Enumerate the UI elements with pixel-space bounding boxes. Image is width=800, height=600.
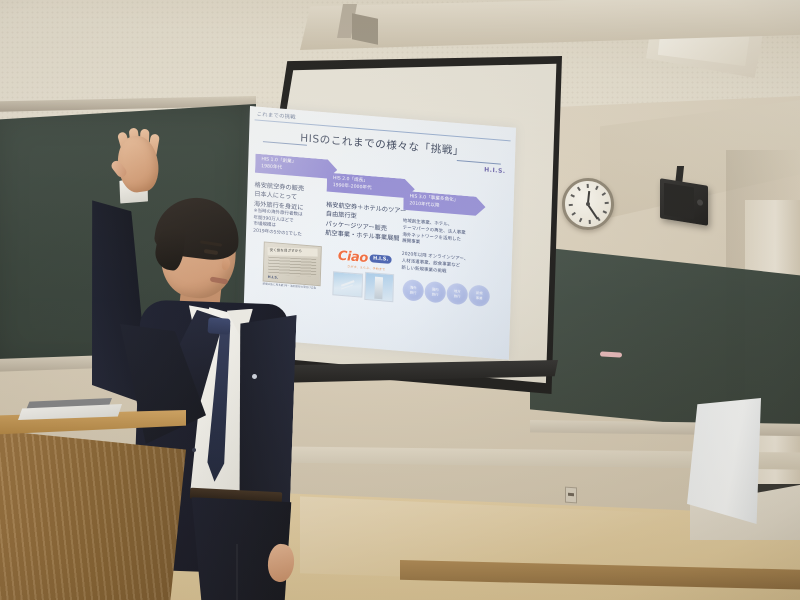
chevron-his-3: HIS 3.0「事業多角化」 2010年代以降 [403, 191, 486, 217]
building-photo [364, 272, 394, 302]
chalk-piece [600, 351, 622, 357]
column-2-heading: 格安航空券＋ホテルのツアー 自由旅行型 パッケージツアー販売 航空事業・ホテル事… [325, 200, 408, 244]
business-circles-row: 海外 旅行 国内 旅行 地方 旅行 新規 事業 [402, 279, 491, 306]
screen-housing-bracket-2 [352, 13, 378, 45]
newspaper-clipping-image: 安く旅を目ざすから H.I.S. [263, 241, 322, 286]
circle-3: 地方 旅行 [446, 283, 468, 306]
jacket-button [192, 448, 196, 452]
airplane-photo [332, 271, 363, 297]
tie-knot [207, 317, 230, 334]
lapel-pin-icon [252, 374, 257, 379]
newsclip-headline: 安く旅を目ざすから [268, 247, 318, 255]
his-brand-mark: H.I.S. [484, 166, 506, 175]
circle-2: 国内 旅行 [424, 281, 446, 304]
lecture-room-scene: これまでの挑戦 HISのこれまでの様々な「挑戦」 H.I.S. HIS 1.0「… [0, 0, 800, 600]
slide-column-3: 地域創生事業、ホテル、 テーマパークの再生、法人事業 海外ネットワークを活用した… [401, 219, 487, 279]
trouser-seam [236, 544, 238, 600]
wall-power-outlet-icon [565, 487, 577, 504]
ciao-wordmark: Ciao [338, 248, 369, 265]
slide-column-2: 格安航空券＋ホテルのツアー 自由旅行型 パッケージツアー販売 航空事業・ホテル事… [325, 200, 408, 244]
circle-4: 新規 事業 [468, 284, 490, 307]
chevron-his-2: HIS 2.0「成長」 1990年-2000年代 [327, 172, 416, 199]
leaning-whiteboard-panel [687, 398, 761, 524]
column-3-body-2: 2020年以降 オンラインツアー、 人材派遣事業、飲食事業など 新しい新規事業の… [401, 252, 486, 279]
column-3-body: 地域創生事業、ホテル、 テーマパークの再生、法人事業 海外ネットワークを活用した… [402, 219, 487, 253]
circle-1: 海外 旅行 [402, 279, 424, 302]
ciao-his-badge: H.I.S. [370, 254, 392, 264]
ceiling-speaker-icon [660, 178, 708, 226]
